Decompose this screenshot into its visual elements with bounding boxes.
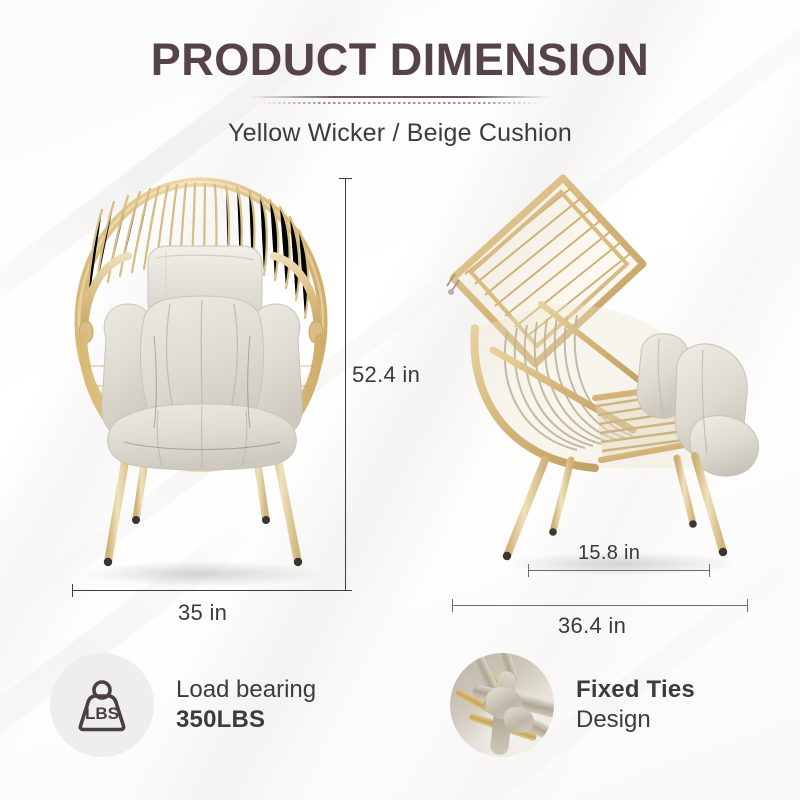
product-illustrations: 52.4 in 35 in 15.8 in 36.4 in xyxy=(0,150,800,650)
seat-depth-dimension-label: 15.8 in xyxy=(578,542,640,565)
header: PRODUCT DIMENSION Yellow Wicker / Beige … xyxy=(0,36,800,148)
load-bearing-text: Load bearing 350LBS xyxy=(176,675,316,735)
fixed-ties-icon-circle xyxy=(450,653,554,757)
seat-depth-dimension-line xyxy=(528,570,710,571)
width-dimension-label: 35 in xyxy=(178,600,227,626)
width-dimension-line xyxy=(72,590,346,591)
divider-dashed-line xyxy=(258,102,542,104)
fixed-ties-line2: Design xyxy=(576,705,695,735)
divider-solid-line xyxy=(250,96,550,98)
fixed-ties-photo xyxy=(450,653,554,757)
feature-badges: LBS Load bearing 350LBS xyxy=(0,630,800,780)
fixed-ties-line1: Fixed Ties xyxy=(576,675,695,705)
seat-depth-tick-left xyxy=(528,564,529,577)
overall-depth-dimension-line xyxy=(452,605,748,606)
weight-lbs-icon: LBS xyxy=(71,674,133,736)
chair-front-view xyxy=(62,170,337,600)
load-bearing-line1: Load bearing xyxy=(176,675,316,705)
seat-depth-tick-right xyxy=(709,564,710,577)
load-bearing-line2: 350LBS xyxy=(176,705,316,735)
chair-side-view xyxy=(445,168,775,598)
overall-depth-tick-right xyxy=(747,599,748,612)
fixed-ties-text: Fixed Ties Design xyxy=(576,675,695,735)
page-subtitle: Yellow Wicker / Beige Cushion xyxy=(0,119,800,148)
title-divider xyxy=(250,96,550,105)
overall-depth-tick-left xyxy=(452,599,453,612)
overall-depth-dimension-label: 36.4 in xyxy=(558,613,626,639)
height-dimension-tick-top xyxy=(339,178,352,179)
feature-load-bearing: LBS Load bearing 350LBS xyxy=(0,630,400,780)
feature-fixed-ties: Fixed Ties Design xyxy=(400,630,800,780)
width-dimension-tick-left xyxy=(72,584,73,597)
height-dimension-label: 52.4 in xyxy=(352,362,420,388)
page-title: PRODUCT DIMENSION xyxy=(0,36,800,83)
product-dimension-page: PRODUCT DIMENSION Yellow Wicker / Beige … xyxy=(0,0,800,800)
load-bearing-icon-circle: LBS xyxy=(50,653,154,757)
height-dimension-line xyxy=(345,178,346,590)
weight-icon-label: LBS xyxy=(85,704,119,723)
